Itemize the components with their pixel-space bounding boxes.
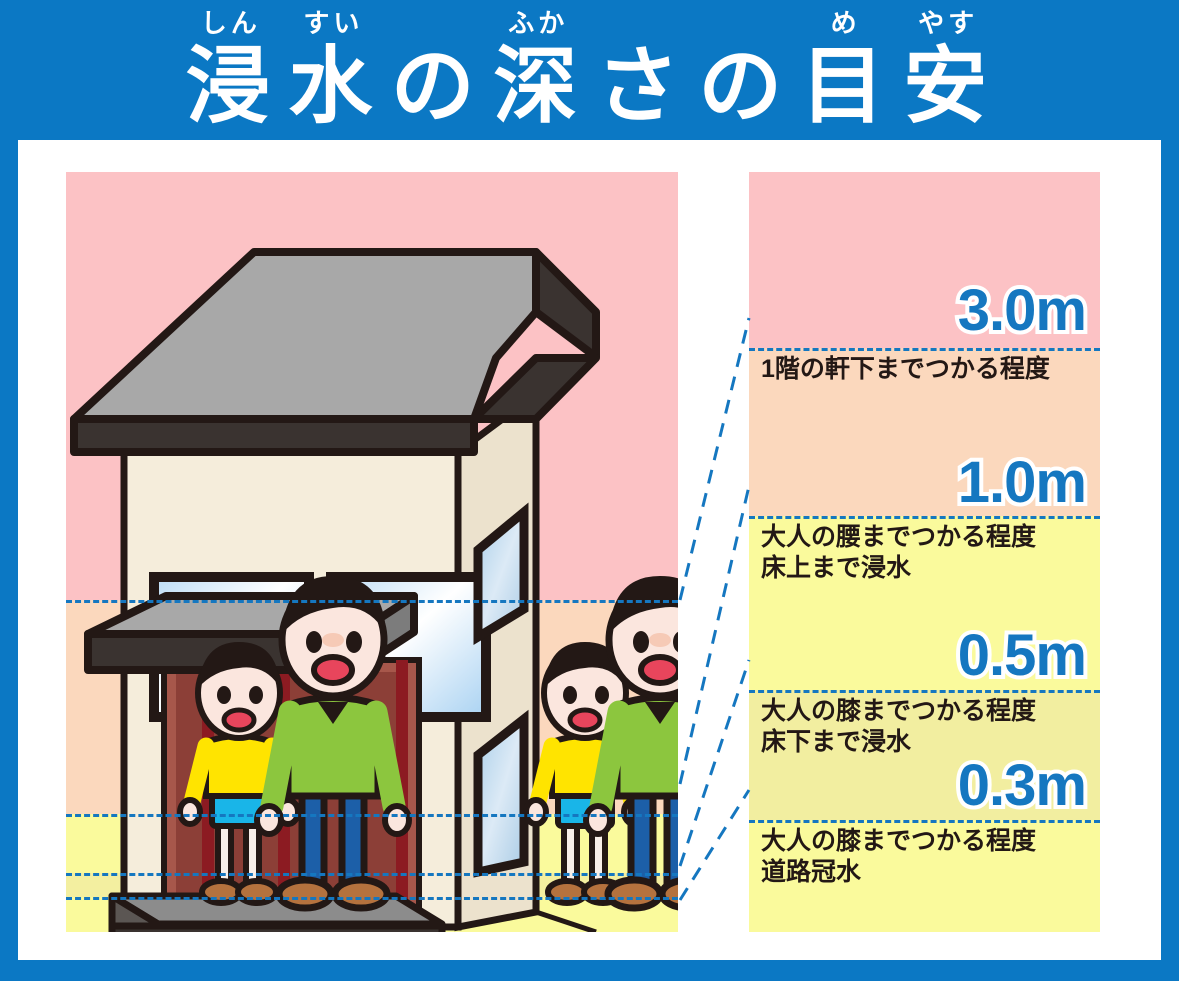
leader-0_5m bbox=[680, 660, 749, 866]
title-char-4: さ bbox=[596, 8, 686, 134]
title-char-1: すい 水 bbox=[288, 8, 378, 134]
furigana-1: すい bbox=[288, 8, 378, 38]
depth-label-0_3m: 0.3m bbox=[958, 757, 1086, 815]
page-title: しん 浸 すい 水 の ふか 深 さ の bbox=[0, 8, 1179, 134]
legend-divider-0 bbox=[749, 348, 1100, 351]
leader-0_3m bbox=[680, 790, 749, 900]
title-bar: しん 浸 すい 水 の ふか 深 さ の bbox=[0, 0, 1179, 140]
title-char-6: め 目 bbox=[801, 8, 891, 134]
porch-step bbox=[112, 896, 442, 932]
content-card: 3.0m 1.0m 0.5m 0.3m 1階の軒下までつかる程度 大人の腰までつ… bbox=[18, 140, 1161, 960]
waterline-1_0m bbox=[66, 814, 678, 817]
kanji-6: 目 bbox=[801, 38, 891, 134]
title-char-5: の bbox=[698, 8, 788, 134]
title-char-0: しん 浸 bbox=[186, 8, 276, 134]
kanji-1: 水 bbox=[288, 38, 378, 134]
illustration-panel bbox=[66, 172, 678, 932]
legend-divider-1 bbox=[749, 516, 1100, 519]
furigana-6: め bbox=[801, 8, 891, 38]
kanji-5: の bbox=[698, 38, 788, 134]
furigana-7: やす bbox=[903, 8, 993, 38]
kanji-0: 浸 bbox=[186, 38, 276, 134]
depth-label-1_0m: 1.0m bbox=[958, 454, 1086, 512]
legend-desc-0_5m: 大人の膝までつかる程度 床下まで浸水 bbox=[761, 696, 1036, 758]
house-illustration bbox=[66, 172, 678, 932]
depth-label-3_0m: 3.0m bbox=[958, 282, 1086, 340]
kanji-7: 安 bbox=[903, 38, 993, 134]
house-roof bbox=[74, 252, 596, 452]
legend-desc-0_3m: 大人の膝までつかる程度 道路冠水 bbox=[761, 826, 1036, 888]
depth-label-0_5m: 0.5m bbox=[958, 627, 1086, 685]
kanji-3: 深 bbox=[493, 38, 583, 134]
furigana-0: しん bbox=[186, 8, 276, 38]
furigana-3: ふか bbox=[493, 8, 583, 38]
legend-panel: 3.0m 1.0m 0.5m 0.3m 1階の軒下までつかる程度 大人の腰までつ… bbox=[749, 172, 1100, 932]
title-char-3: ふか 深 bbox=[493, 8, 583, 134]
kanji-2: の bbox=[391, 38, 481, 134]
title-char-7: やす 安 bbox=[903, 8, 993, 134]
waterline-3_0m bbox=[66, 600, 678, 603]
legend-divider-3 bbox=[749, 820, 1100, 823]
waterline-0_3m bbox=[66, 897, 678, 900]
leader-3_0m bbox=[680, 318, 749, 600]
legend-desc-3_0m: 1階の軒下までつかる程度 bbox=[761, 354, 1050, 385]
waterline-0_5m bbox=[66, 873, 678, 876]
leader-1_0m bbox=[680, 486, 749, 784]
title-char-2: の bbox=[391, 8, 481, 134]
legend-desc-1_0m: 大人の腰までつかる程度 床上まで浸水 bbox=[761, 522, 1036, 584]
infographic-root: しん 浸 すい 水 の ふか 深 さ の bbox=[0, 0, 1179, 981]
legend-divider-2 bbox=[749, 690, 1100, 693]
kanji-4: さ bbox=[596, 38, 686, 134]
